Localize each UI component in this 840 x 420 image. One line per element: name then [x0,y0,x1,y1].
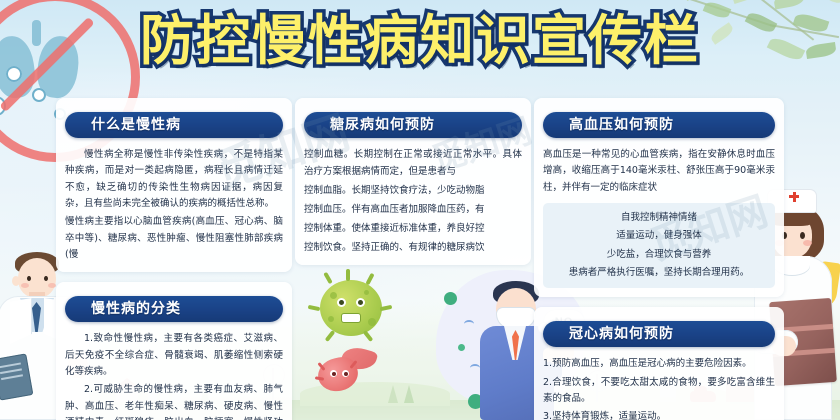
section-heading: 糖尿病如何预防 [304,112,522,138]
paragraph: 3.坚持体育锻炼，适量运动。 [543,409,775,420]
paragraph: 2.合理饮食，不要吃太甜太咸的食物，要多吃富含维生素的食品。 [543,375,775,408]
section-coronary-prevention: 冠心病如何预防 1.预防高血压，高血压是冠心病的主要危险因素。 2.合理饮食，不… [534,307,784,420]
section-classification: 慢性病的分类 1.致命性慢性病，主要有各类癌症、艾滋病、后天免疫不全综合症、骨髓… [56,282,292,420]
section-diabetes-prevention: 糖尿病如何预防 控制血糖。长期控制在正常或接近正常水平。具体治疗方案根据病情而定… [295,98,531,265]
paragraph: 高血压是一种常见的心血管疾病，指在安静休息时血压增高，收缩压高于140毫米汞柱、… [543,147,775,196]
section-hypertension-prevention: 高血压如何预防 高血压是一种常见的心血管疾病，指在安静休息时血压增高，收缩压高于… [534,98,784,297]
paragraph: 慢性病主要指以心脑血管疾病(高血压、冠心病、脑卒中等)、糖尿病、恶性肿瘤、慢性阻… [65,214,283,263]
column-left: 什么是慢性病 慢性病全称是慢性非传染性疾病，不是特指某种疾病，而是对一类起病隐匿… [56,98,292,418]
paragraph: 2.可威胁生命的慢性病，主要有血友病、肺气肿、高血压、老年性痴呆、糖尿病、硬皮病… [65,382,283,420]
column-middle: 糖尿病如何预防 控制血糖。长期控制在正常或接近正常水平。具体治疗方案根据病情而定… [295,98,531,418]
tip-item: 少吃盐，合理饮食与营养 [549,247,769,263]
column-right: 高血压如何预防 高血压是一种常见的心血管疾病，指在安静休息时血压增高，收缩压高于… [534,98,784,418]
tip-item: 自我控制精神情绪 [549,210,769,226]
paragraph: 控制血压。伴有高血压者加服降血压药，有 [304,202,522,219]
section-heading: 什么是慢性病 [65,112,283,138]
section-what-is-chronic-disease: 什么是慢性病 慢性病全称是慢性非传染性疾病，不是特指某种疾病，而是对一类起病隐匿… [56,98,292,272]
section-heading: 高血压如何预防 [543,112,775,138]
paragraph: 控制体重。使体重接近标准体重，养良好控 [304,221,522,238]
content-columns: 什么是慢性病 慢性病全称是慢性非传染性疾病，不是特指某种疾病，而是对一类起病隐匿… [0,98,840,418]
paragraph: 控制饮食。坚持正确的、有规律的糖尿病饮 [304,240,522,257]
paragraph: 1.预防高血压，高血压是冠心病的主要危险因素。 [543,356,775,372]
page-title: 防控慢性病知识宣传栏 [0,14,840,68]
paragraph: 控制血脂。长期坚持饮食疗法，少吃动物脂 [304,183,522,200]
tip-item: 适量运动，健身强体 [549,228,769,244]
hypertension-tips-panel: 自我控制精神情绪 适量运动，健身强体 少吃盐，合理饮食与营养 患病者严格执行医嘱… [543,203,775,288]
paragraph: 1.致命性慢性病，主要有各类癌症、艾滋病、后天免疫不全综合症、骨髓衰竭、肌萎缩性… [65,331,283,380]
tip-item: 患病者严格执行医嘱，坚持长期合理用药。 [549,265,769,281]
paragraph: 控制血糖。长期控制在正常或接近正常水平。具体治疗方案根据病情而定，但是患者与 [304,147,522,181]
paragraph: 慢性病全称是慢性非传染性疾病，不是特指某种疾病，而是对一类起病隐匿，病程长且病情… [65,147,283,212]
poster-canvas: NO 防控慢性病知识宣传栏 [0,0,840,420]
section-heading: 冠心病如何预防 [543,321,775,347]
title-text: 防控慢性病知识宣传栏 [140,14,700,68]
section-heading: 慢性病的分类 [65,296,283,322]
